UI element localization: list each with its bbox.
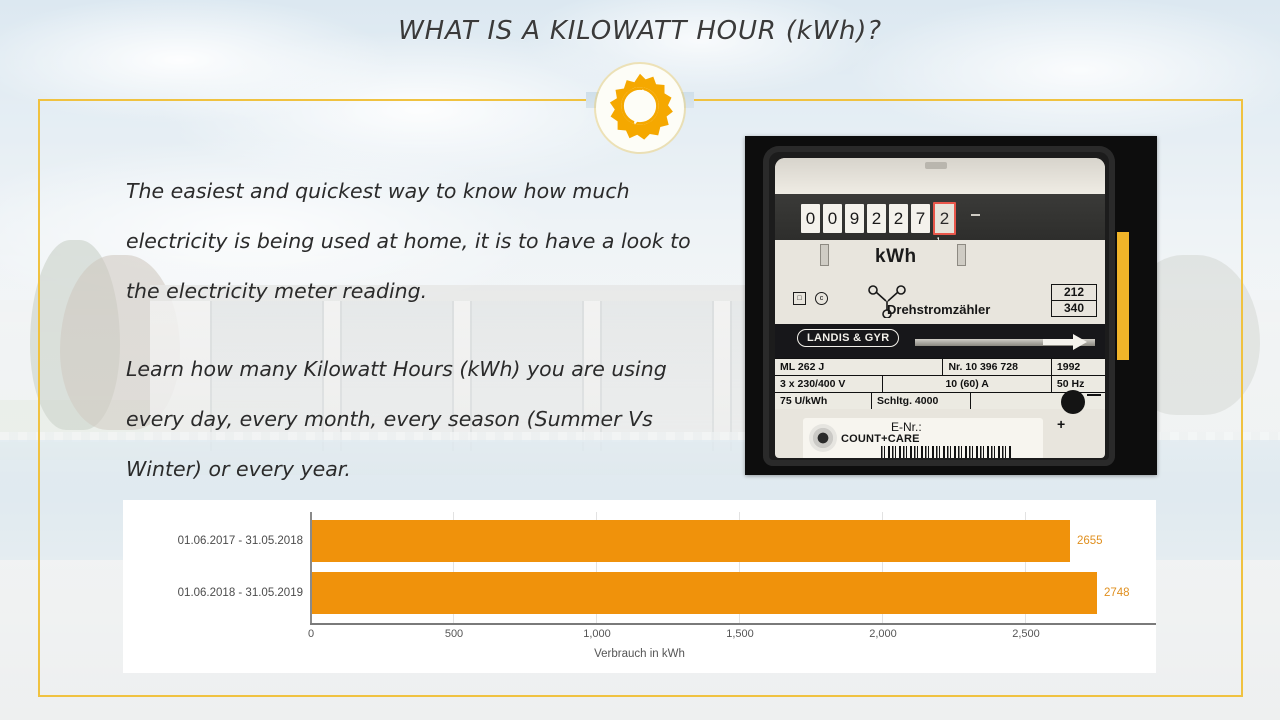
meter-knob bbox=[1061, 390, 1085, 414]
meter-ratio-bottom: 340 bbox=[1052, 300, 1096, 316]
meter-circuit: Schltg. 4000 bbox=[872, 393, 971, 409]
meter-digit: 7 bbox=[911, 204, 930, 233]
meter-digit: 0 bbox=[823, 204, 842, 233]
meter-voltage: 3 x 230/400 V bbox=[775, 376, 883, 392]
chart-x-tick: 500 bbox=[445, 628, 463, 640]
meter-plus-label: + bbox=[1057, 416, 1065, 432]
meter-frequency: 50 Hz bbox=[1052, 376, 1105, 392]
chart-x-tick: 1,000 bbox=[583, 628, 611, 640]
chart-bar bbox=[311, 572, 1097, 614]
meter-brand-logo: LANDIS & GYR bbox=[797, 329, 899, 347]
meter-ratio-box: 212 340 bbox=[1051, 284, 1097, 317]
page-title: WHAT IS A KILOWATT HOUR (kWh)? bbox=[0, 16, 1280, 46]
barcode bbox=[881, 446, 1011, 458]
meter-clip bbox=[925, 162, 947, 169]
nameplate-blank bbox=[971, 393, 1053, 409]
chart-x-axis-title: Verbrauch in kWh bbox=[123, 648, 1156, 660]
slide: WHAT IS A KILOWATT HOUR (kWh)? The easie… bbox=[0, 0, 1280, 720]
meter-digit: 0 bbox=[801, 204, 820, 233]
sticker-seal-icon bbox=[809, 424, 837, 452]
chart-x-axis bbox=[310, 623, 1156, 625]
chart-x-tick: 2,500 bbox=[1012, 628, 1040, 640]
chart-x-tick: 0 bbox=[308, 628, 314, 640]
meter-reading: 0 0 9 2 2 7 2 bbox=[801, 202, 956, 235]
meter-year: 1992 bbox=[1052, 359, 1105, 375]
gear-lightning-icon bbox=[605, 71, 675, 146]
badge bbox=[596, 64, 684, 152]
meter-model: ML 262 J bbox=[775, 359, 943, 375]
chart-bar bbox=[311, 520, 1070, 562]
meter-sticker: E-Nr.: COUNT+CARE bbox=[803, 418, 1043, 458]
nameplate-row: 3 x 230/400 V 10 (60) A 50 Hz bbox=[775, 375, 1105, 392]
meter-current: 10 (60) A bbox=[883, 376, 1051, 392]
chart-bar-value: 2748 bbox=[1104, 587, 1130, 599]
electricity-meter-photo: 0 0 9 2 2 7 2 , kWh □ c bbox=[745, 136, 1157, 475]
meter-digit: 2 bbox=[889, 204, 908, 233]
meter-constant: 75 U/kWh bbox=[775, 393, 872, 409]
meter-pin-right bbox=[957, 244, 966, 266]
meter-ratio-top: 212 bbox=[1052, 285, 1096, 300]
chart-bar-value: 2655 bbox=[1077, 535, 1103, 547]
meter-type-label: Drehstromzähler bbox=[887, 302, 990, 317]
meter-serial: Nr. 10 396 728 bbox=[943, 359, 1051, 375]
meter-dash bbox=[971, 214, 980, 216]
meter-decimal-comma: , bbox=[936, 226, 940, 244]
paragraph-2: Learn how many Kilowatt Hours (kWh) you … bbox=[126, 344, 706, 494]
chart-x-tick: 1,500 bbox=[726, 628, 754, 640]
meter-digit: 9 bbox=[845, 204, 864, 233]
meter-face: 0 0 9 2 2 7 2 , kWh □ c bbox=[775, 158, 1105, 458]
meter-yellow-seal-strip bbox=[1117, 232, 1129, 360]
meter-knob-line bbox=[1087, 394, 1101, 396]
meter-pin-left bbox=[820, 244, 829, 266]
consumption-bar-chart: 2655 2748 01.06.2017 - 31.05.2018 01.06.… bbox=[123, 500, 1156, 673]
chart-plot-area: 2655 2748 01.06.2017 - 31.05.2018 01.06.… bbox=[123, 500, 1156, 673]
right-arrow-icon bbox=[1043, 334, 1087, 350]
meter-nameplate: ML 262 J Nr. 10 396 728 1992 3 x 230/400… bbox=[775, 358, 1105, 409]
sticker-enr-label: E-Nr.: bbox=[891, 420, 922, 434]
sticker-company-label: COUNT+CARE bbox=[841, 433, 920, 445]
body-text: The easiest and quickest way to know how… bbox=[126, 166, 706, 522]
meter-symbol-square: □ bbox=[793, 292, 806, 305]
chart-y-axis bbox=[310, 512, 312, 623]
paragraph-1: The easiest and quickest way to know how… bbox=[126, 166, 706, 316]
meter-unit-label: kWh bbox=[875, 246, 917, 268]
chart-category-label: 01.06.2017 - 31.05.2018 bbox=[145, 535, 303, 547]
nameplate-row: 75 U/kWh Schltg. 4000 bbox=[775, 392, 1105, 409]
chart-category-label: 01.06.2018 - 31.05.2019 bbox=[145, 587, 303, 599]
meter-symbol-c: c bbox=[815, 292, 828, 305]
nameplate-row: ML 262 J Nr. 10 396 728 1992 bbox=[775, 358, 1105, 375]
meter-digit: 2 bbox=[867, 204, 886, 233]
chart-x-tick: 2,000 bbox=[869, 628, 897, 640]
meter-symbols: □ c bbox=[793, 292, 828, 305]
